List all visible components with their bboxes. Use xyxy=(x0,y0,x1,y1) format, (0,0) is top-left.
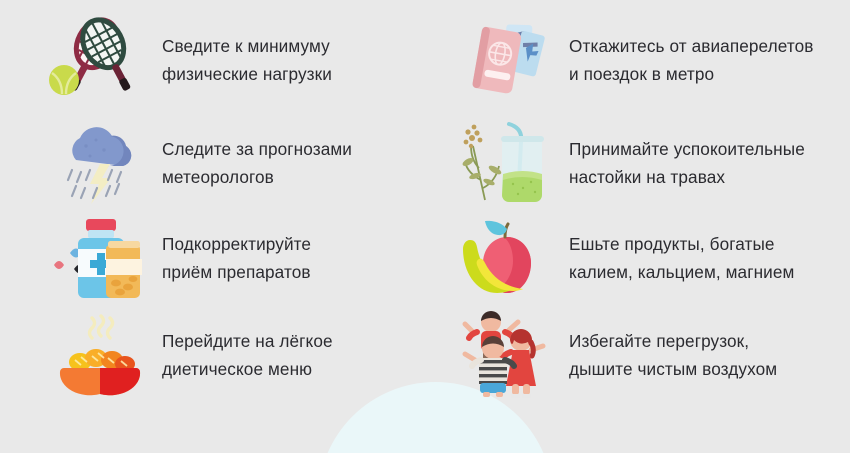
banana-apple-icon xyxy=(455,213,559,305)
tip-text: Следите за прогнозами метеорологов xyxy=(162,136,352,192)
hot-meal-bowl-icon xyxy=(48,310,152,402)
tip-item: Подкорректируйте приём препаратов xyxy=(0,211,425,306)
medicine-bottles-icon xyxy=(48,213,152,305)
tip-text: Избегайте перегрузок, дышите чистым возд… xyxy=(569,328,777,384)
tip-text: Принимайте успокоительные настойки на тр… xyxy=(569,136,805,192)
storm-cloud-rain-icon xyxy=(48,118,152,210)
tip-text: Подкорректируйте приём препаратов xyxy=(162,231,311,287)
tip-item: Ешьте продукты, богатые калием, кальцием… xyxy=(425,211,850,306)
tip-text: Сведите к минимуму физические нагрузки xyxy=(162,33,332,89)
tip-text: Перейдите на лёгкое диетическое меню xyxy=(162,328,333,384)
tip-item: Откажитесь от авиаперелетов и поездок в … xyxy=(425,6,850,116)
tip-item: Перейдите на лёгкое диетическое меню xyxy=(0,306,425,406)
infographic-root: Сведите к минимуму физические нагрузки xyxy=(0,0,850,453)
tip-text: Откажитесь от авиаперелетов и поездок в … xyxy=(569,33,814,89)
tip-item: Сведите к минимуму физические нагрузки xyxy=(0,6,425,116)
tip-item: Следите за прогнозами метеорологов xyxy=(0,116,425,211)
tip-item: Принимайте успокоительные настойки на тр… xyxy=(425,116,850,211)
tip-item: Избегайте перегрузок, дышите чистым возд… xyxy=(425,306,850,406)
herbal-drink-icon xyxy=(455,118,559,210)
children-playing-icon xyxy=(455,310,559,402)
tip-text: Ешьте продукты, богатые калием, кальцием… xyxy=(569,231,794,287)
passport-tickets-icon xyxy=(455,15,559,107)
tennis-rackets-icon xyxy=(48,15,152,107)
tips-grid: Сведите к минимуму физические нагрузки xyxy=(0,0,850,453)
